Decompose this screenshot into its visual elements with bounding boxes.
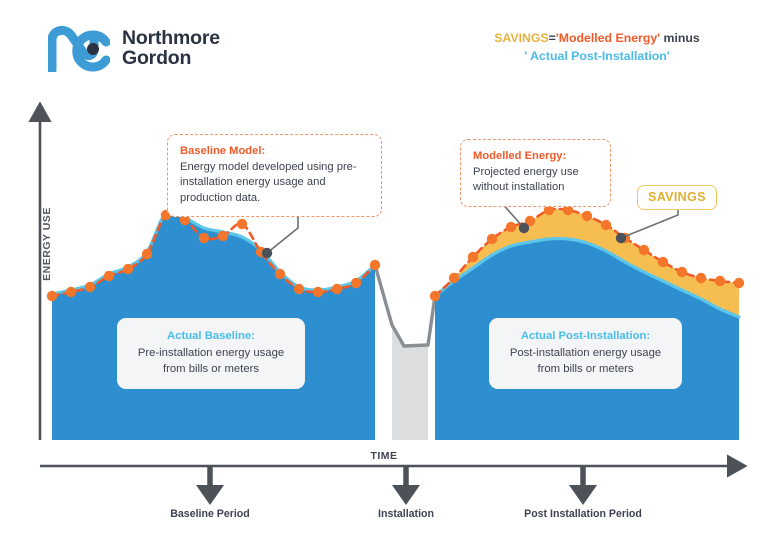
data-point-marker: [506, 222, 516, 232]
data-point-marker: [582, 211, 592, 221]
annotation-leader-line: [621, 210, 678, 238]
data-point-marker: [66, 287, 76, 297]
infobox-actual-baseline-body: Pre-installation energy usage from bills…: [138, 347, 284, 375]
infobox-actual-post-installation-title: Actual Post-Installation:: [501, 328, 670, 344]
data-point-marker: [351, 278, 361, 288]
data-point-marker: [715, 276, 725, 286]
data-point-marker: [275, 269, 285, 279]
data-point-marker: [677, 267, 687, 277]
data-point-marker: [142, 249, 152, 259]
callout-baseline-model-body: Energy model developed using pre-install…: [180, 161, 357, 203]
data-point-marker: [85, 282, 95, 292]
data-point-marker: [294, 284, 304, 294]
data-point-marker: [237, 219, 247, 229]
callout-modelled-energy-body: Projected energy use without installatio…: [473, 166, 579, 193]
callout-modelled-energy: Modelled Energy: Projected energy use wi…: [460, 139, 611, 207]
period-label-baseline: Baseline Period: [170, 508, 249, 520]
period-arrow-post: [569, 466, 597, 505]
infobox-actual-baseline: Actual Baseline: Pre-installation energy…: [117, 318, 305, 389]
data-point-marker: [123, 264, 133, 274]
infobox-actual-post-installation-body: Post-installation energy usage from bill…: [510, 347, 661, 375]
callout-baseline-model: Baseline Model: Energy model developed u…: [167, 134, 382, 217]
data-point-marker: [313, 287, 323, 297]
callout-baseline-model-title: Baseline Model:: [180, 144, 370, 159]
data-point-marker: [199, 233, 209, 243]
period-arrow-installation: [392, 466, 420, 505]
data-point-marker: [601, 220, 611, 230]
data-point-marker: [430, 291, 440, 301]
period-label-post: Post Installation Period: [524, 508, 642, 520]
installation-gap: [375, 265, 435, 440]
annotation-anchor-dot: [616, 233, 626, 243]
data-point-marker: [658, 257, 668, 267]
data-point-marker: [218, 231, 228, 241]
infobox-actual-post-installation: Actual Post-Installation: Post-installat…: [489, 318, 682, 389]
data-point-marker: [370, 260, 380, 270]
period-arrow-baseline: [196, 466, 224, 505]
data-point-marker: [449, 273, 459, 283]
callout-modelled-energy-title: Modelled Energy:: [473, 149, 599, 164]
savings-badge: SAVINGS: [637, 185, 717, 210]
annotation-anchor-dot: [262, 248, 272, 258]
data-point-marker: [104, 271, 114, 281]
data-point-marker: [332, 284, 342, 294]
data-point-marker: [487, 234, 497, 244]
data-point-marker: [639, 245, 649, 255]
x-axis-label: TIME: [0, 450, 768, 462]
period-arrows: [196, 466, 597, 505]
data-point-marker: [696, 273, 706, 283]
annotation-anchor-dot: [519, 223, 529, 233]
data-point-marker: [47, 291, 57, 301]
y-axis-label: ENERGY USE: [41, 199, 53, 289]
period-label-installation: Installation: [378, 508, 434, 520]
data-point-marker: [468, 252, 478, 262]
data-point-marker: [734, 278, 744, 288]
infobox-actual-baseline-title: Actual Baseline:: [129, 328, 293, 344]
